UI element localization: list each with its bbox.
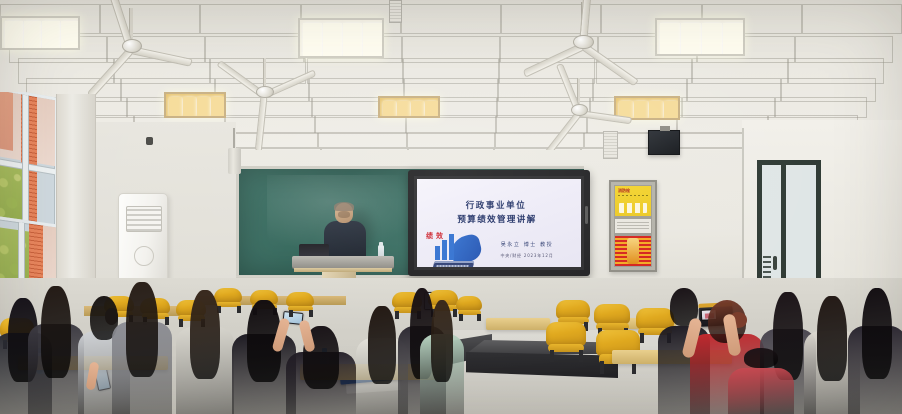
classroom-chair[interactable] <box>546 322 586 360</box>
poster-rule <box>618 195 648 196</box>
audience-head <box>190 290 220 379</box>
light-tube <box>383 101 396 117</box>
wall-monitor[interactable] <box>648 130 680 155</box>
audience-member <box>176 290 234 414</box>
audience-torso <box>728 368 794 414</box>
light-panel <box>0 16 80 50</box>
slide-content: 行政事业单位 预算绩效管理讲解 绩效 吴永立 博士 教授 中央/财经 2023年… <box>417 179 581 267</box>
podium-top <box>292 256 394 268</box>
brick-detail <box>0 92 13 150</box>
ceiling-tile <box>802 4 902 34</box>
bar-graphic <box>442 240 447 260</box>
poster-text-box <box>615 219 651 233</box>
audience-member <box>420 300 464 414</box>
ac-dial[interactable] <box>134 246 154 266</box>
chair-back <box>546 322 586 346</box>
light-tube <box>169 97 182 117</box>
ac-grille <box>126 206 162 232</box>
audience-head <box>862 288 892 379</box>
classroom-desk <box>486 318 550 330</box>
presenter-face <box>338 211 350 218</box>
slide-title-line2: 预算绩效管理讲解 <box>417 213 577 225</box>
window-mullion <box>23 95 28 240</box>
light-tube <box>197 97 210 117</box>
light-tube <box>343 23 362 57</box>
ceiling-tile <box>401 4 501 34</box>
light-tube <box>397 101 410 117</box>
poster-banner: 消防栓 <box>615 186 651 216</box>
window-blind[interactable] <box>56 94 96 302</box>
chair-leg <box>600 361 604 374</box>
chair-leg <box>579 350 583 361</box>
poster-text-line <box>617 225 649 226</box>
light-panel <box>378 96 440 118</box>
audience-head <box>431 300 454 382</box>
audience-member <box>848 288 902 414</box>
fan-hub <box>122 39 142 53</box>
light-tube <box>183 97 196 117</box>
audience-member <box>728 348 794 414</box>
light-tube <box>61 21 79 49</box>
audience-member <box>286 326 356 414</box>
ceiling-tile <box>407 132 496 149</box>
light-tube <box>24 21 42 49</box>
chair-leg <box>309 310 313 317</box>
poster-graphic <box>615 236 651 266</box>
light-panel <box>298 18 384 58</box>
light-tube <box>363 23 382 57</box>
fire-safety-poster: 消防栓 <box>609 180 657 272</box>
chair-leg <box>640 333 644 343</box>
light-tube <box>702 23 722 55</box>
light-tube <box>425 101 438 117</box>
security-camera-icon <box>146 137 153 145</box>
slide-presenter-name: 吴永立 博士 教授 <box>483 241 571 248</box>
light-tube <box>5 21 23 49</box>
presenter-hair <box>334 202 354 211</box>
chair-leg <box>477 314 481 321</box>
hanging-speaker <box>228 148 241 174</box>
light-tube <box>411 101 424 117</box>
light-tube <box>723 23 743 55</box>
poster-heading: 消防栓 <box>618 188 630 194</box>
fan-rod <box>263 58 267 89</box>
poster-icon-row <box>619 203 647 213</box>
audience-member <box>28 286 84 414</box>
door-label <box>763 256 771 278</box>
window-wall <box>0 92 100 307</box>
light-tube <box>42 21 60 49</box>
wall-speaker <box>603 131 618 159</box>
poster-text-line <box>617 222 649 223</box>
audience-head <box>744 348 778 368</box>
presentation-display[interactable]: 行政事业单位 预算绩效管理讲解 绩效 吴永立 博士 教授 中央/财经 2023年… <box>408 170 590 276</box>
chair-leg <box>550 350 554 361</box>
audience-member <box>112 282 172 414</box>
ceiling-fan <box>95 8 235 98</box>
slide-meta-text: 中央/财经 2023年12月 <box>479 253 575 259</box>
ceiling-fan <box>232 58 358 139</box>
slide-graphic-icon <box>431 239 485 267</box>
door-handle[interactable] <box>773 256 777 270</box>
display-button[interactable] <box>585 206 588 224</box>
light-tube <box>211 97 224 117</box>
light-tube <box>303 23 322 57</box>
audience-head <box>126 282 157 377</box>
audience-head <box>368 306 395 384</box>
slide-title-line1: 行政事业单位 <box>417 199 575 211</box>
keyboard-graphic <box>435 265 468 267</box>
audience-head <box>817 296 846 381</box>
light-tube <box>323 23 342 57</box>
chair-back <box>594 304 630 324</box>
ceiling-speaker-left <box>389 0 402 23</box>
bar-graphic <box>449 234 454 260</box>
chair-back <box>556 300 590 319</box>
bar-graphic <box>435 246 440 260</box>
classroom-photo: 行政事业单位 预算绩效管理讲解 绩效 吴永立 博士 教授 中央/财经 2023年… <box>0 0 902 414</box>
audience-head <box>41 286 70 378</box>
poster-text-line <box>617 228 649 229</box>
fan-hub <box>256 86 274 99</box>
